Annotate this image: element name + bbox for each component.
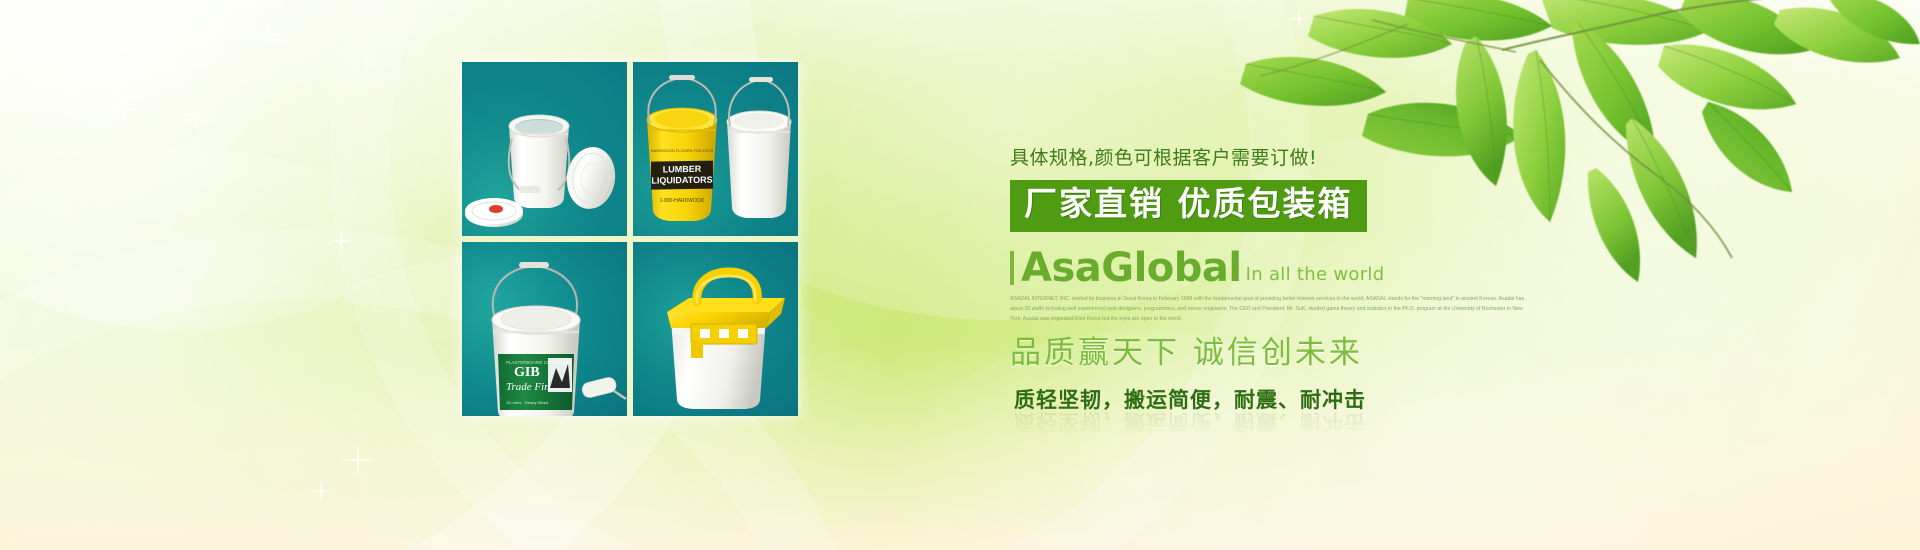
sparkle-icon bbox=[326, 226, 356, 256]
svg-text:LUMBER: LUMBER bbox=[663, 164, 702, 175]
brand-accent-bar bbox=[1010, 251, 1014, 285]
sparkle-icon bbox=[250, 18, 284, 52]
svg-text:LIQUIDATORS: LIQUIDATORS bbox=[651, 175, 712, 186]
svg-text:GIB: GIB bbox=[514, 365, 540, 380]
product-photo-printed-pail: GIB Trade Finish PLASTERBOARD COMPOUND 1… bbox=[462, 242, 627, 416]
sparkle-icon bbox=[338, 440, 378, 480]
product-photo-grid: LUMBER LIQUIDATORS HARDWOOD FLOORS FOR L… bbox=[462, 62, 798, 416]
svg-text:15 Litres · Ready Mixed: 15 Litres · Ready Mixed bbox=[506, 400, 548, 405]
svg-text:HARDWOOD FLOORS FOR LESS: HARDWOOD FLOORS FOR LESS bbox=[651, 148, 714, 153]
svg-text:1-800-HARDWOOD: 1-800-HARDWOOD bbox=[660, 198, 705, 204]
product-photo-white-pail bbox=[462, 62, 627, 236]
bokeh-circle-icon bbox=[0, 0, 520, 330]
product-photo-yellow-pail: LUMBER LIQUIDATORS HARDWOOD FLOORS FOR L… bbox=[633, 62, 798, 236]
bokeh-circle-icon bbox=[0, 150, 500, 550]
subline-wrap: 质轻坚韧，搬运简便，耐震、耐冲击 质轻坚韧，搬运简便，耐震、耐冲击 bbox=[1014, 388, 1570, 413]
sparkle-icon bbox=[308, 478, 334, 504]
company-fineprint: ASADAL INTERNET, INC. started its busine… bbox=[1010, 294, 1530, 324]
sparkle-icon bbox=[112, 96, 138, 122]
subline-text: 质轻坚韧，搬运简便，耐震、耐冲击 bbox=[1014, 388, 1570, 413]
headline-banner: 厂家直销 优质包装箱 bbox=[1010, 180, 1367, 232]
slogan-text: 品质赢天下 诚信创未来 bbox=[1010, 336, 1570, 372]
kicker-text: 具体规格,颜色可根据客户需要订做! bbox=[1010, 148, 1570, 169]
promo-banner: LUMBER LIQUIDATORS HARDWOOD FLOORS FOR L… bbox=[0, 0, 1920, 550]
banner-copy: 具体规格,颜色可根据客户需要订做! 厂家直销 优质包装箱 AsaGlobal I… bbox=[1010, 148, 1570, 413]
sparkle-icon bbox=[355, 52, 379, 76]
brand-tagline: In all the world bbox=[1246, 264, 1385, 288]
brand-name: AsaGlobal bbox=[1021, 248, 1242, 288]
product-photo-toolbox bbox=[633, 242, 798, 416]
sparkle-icon bbox=[1288, 8, 1310, 30]
sparkle-icon bbox=[175, 98, 219, 142]
brand-lockup: AsaGlobal In all the world bbox=[1010, 248, 1570, 288]
headline-text: 厂家直销 优质包装箱 bbox=[1024, 184, 1353, 223]
